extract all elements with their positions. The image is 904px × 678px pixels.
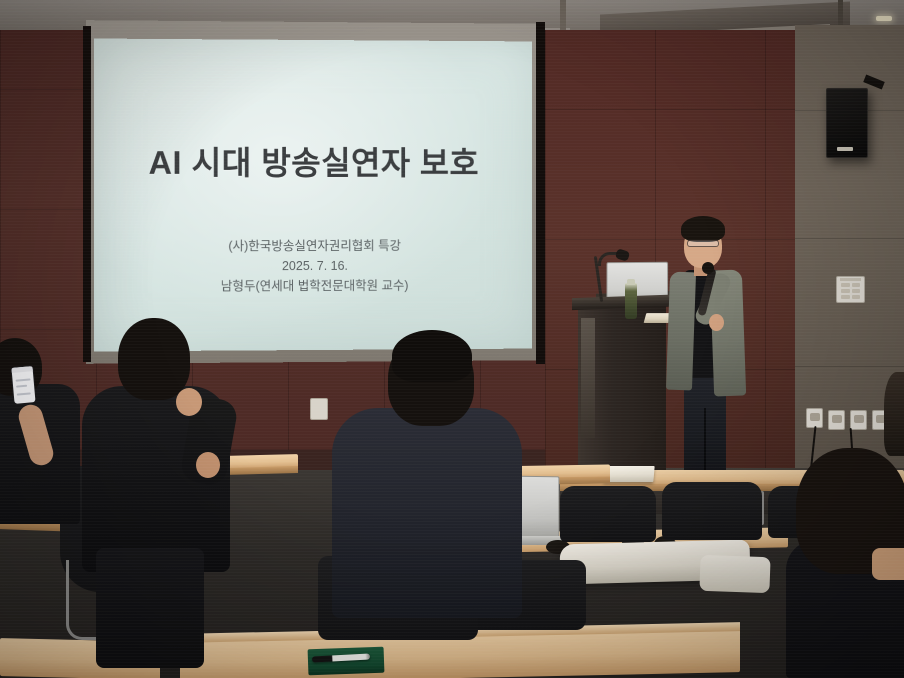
- attendee-black-shirt-head: [118, 318, 190, 400]
- switch-panel-label: [840, 278, 861, 281]
- presenter: [660, 212, 752, 477]
- attendee-black-shirt-hand: [176, 388, 202, 416]
- screen-edge-right: [536, 22, 545, 364]
- phone-status-bar: [11, 366, 32, 373]
- chair[interactable]: [560, 486, 656, 542]
- power-outlet[interactable]: [828, 410, 845, 430]
- wall-outlet-plate[interactable]: [310, 398, 328, 420]
- attendee-black-shirt-legs: [96, 548, 204, 668]
- slide-subtitle-line-2: 2025. 7. 16.: [94, 255, 532, 276]
- white-bag-secondary: [699, 555, 770, 593]
- slide-subtitle-line-3: 남형두(연세대 법학전문대학원 교수): [94, 275, 532, 297]
- water-bottle-cap: [627, 279, 635, 285]
- speaker-badge: [837, 147, 853, 151]
- attendee-black-shirt-hand: [196, 452, 220, 478]
- water-bottle: [625, 283, 637, 319]
- light-switch-panel[interactable]: [836, 276, 865, 303]
- presenter-hair: [681, 216, 725, 242]
- ceiling-light: [876, 16, 892, 21]
- outlet-socket: [832, 415, 842, 423]
- light-switch-button[interactable]: [852, 283, 861, 287]
- power-outlet[interactable]: [806, 408, 823, 428]
- outlet-socket: [854, 415, 864, 423]
- presenter-jacket-left: [666, 272, 696, 391]
- light-switch-button[interactable]: [841, 283, 850, 287]
- phone-content-line: [17, 392, 31, 395]
- slide-title: AI 시대 방송실연자 보호: [94, 137, 532, 184]
- glasses-icon: [687, 240, 719, 247]
- podium-side-panel: [581, 318, 595, 438]
- lecture-hall-photo: AI 시대 방송실연자 보호 (사)한국방송실연자권리협회 특강 2025. 7…: [0, 0, 904, 678]
- microphone-head-icon: [702, 262, 714, 274]
- outlet-socket: [810, 413, 820, 421]
- power-outlet[interactable]: [850, 410, 867, 430]
- attendee-right-hair-strand: [884, 372, 904, 456]
- light-switch-button[interactable]: [841, 289, 850, 293]
- smartphone[interactable]: [10, 365, 36, 405]
- screen-edge-left: [83, 26, 91, 362]
- screen-glare: [94, 39, 532, 352]
- slide-subtitle: (사)한국방송실연자권리협회 특강 2025. 7. 16. 남형두(연세대 법…: [94, 236, 532, 297]
- attendee-suit-body: [332, 408, 522, 618]
- light-switch-button[interactable]: [852, 295, 861, 299]
- presenter-hand: [709, 314, 724, 331]
- attendee-right-shoulder-skin: [872, 548, 904, 580]
- presenter-leg-gap: [704, 408, 706, 478]
- light-switch-button[interactable]: [852, 289, 861, 293]
- attendee-suit-hair: [392, 330, 472, 382]
- wall-speaker: [826, 88, 868, 158]
- phone-content-line: [16, 378, 31, 381]
- phone-content-line: [16, 385, 27, 388]
- chair[interactable]: [662, 482, 762, 540]
- white-book: [603, 466, 654, 482]
- slide-subtitle-line-1: (사)한국방송실연자권리협회 특강: [94, 236, 532, 257]
- projection-screen: AI 시대 방송실연자 보호 (사)한국방송실연자권리협회 특강 2025. 7…: [94, 39, 532, 352]
- light-switch-button[interactable]: [841, 295, 850, 299]
